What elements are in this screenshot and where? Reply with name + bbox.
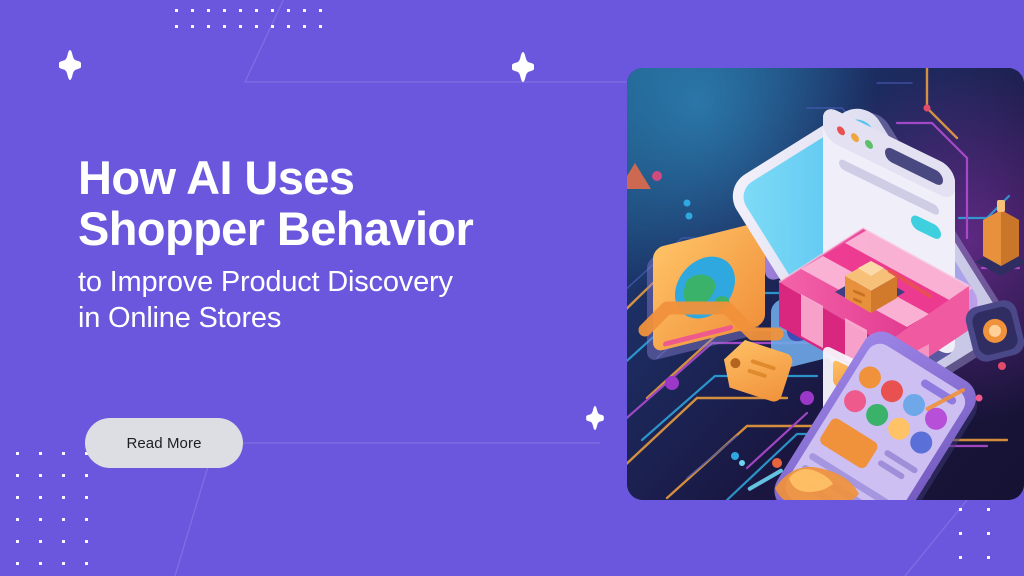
four-point-star-icon <box>583 406 607 430</box>
dot <box>255 25 258 28</box>
dot <box>239 25 242 28</box>
headline-line-1: How AI Uses <box>78 151 354 204</box>
dot <box>39 474 42 477</box>
dot <box>303 9 306 12</box>
four-point-star-icon <box>508 52 538 82</box>
dot <box>39 518 42 521</box>
dot <box>16 518 19 521</box>
dot <box>987 532 990 535</box>
dot <box>223 25 226 28</box>
dot <box>16 474 19 477</box>
dot <box>271 25 274 28</box>
dot <box>62 452 65 455</box>
headline-line-2: Shopper Behavior <box>78 202 473 255</box>
dot <box>62 496 65 499</box>
dot <box>16 452 19 455</box>
dot <box>191 9 194 12</box>
page-subtitle: to Improve Product Discovery in Online S… <box>78 265 618 336</box>
dot <box>39 562 42 565</box>
dot <box>223 9 226 12</box>
dot <box>287 9 290 12</box>
dot <box>319 9 322 12</box>
dot <box>16 540 19 543</box>
dot <box>987 556 990 559</box>
dot <box>175 9 178 12</box>
dot <box>85 562 88 565</box>
dot <box>287 25 290 28</box>
dot <box>62 474 65 477</box>
hero-illustration <box>627 68 1024 500</box>
read-more-button[interactable]: Read More <box>85 418 243 468</box>
dot <box>987 508 990 511</box>
promo-banner: How AI Uses Shopper Behavior to Improve … <box>0 0 1024 576</box>
dot <box>191 25 194 28</box>
dot <box>39 496 42 499</box>
dot <box>207 9 210 12</box>
dot <box>62 540 65 543</box>
dot <box>62 562 65 565</box>
dot <box>255 9 258 12</box>
dot-grid-bottom-right <box>959 508 1015 576</box>
subhead-line-2: in Online Stores <box>78 302 281 334</box>
page-title: How AI Uses Shopper Behavior <box>78 152 618 254</box>
dot <box>959 556 962 559</box>
dot <box>959 532 962 535</box>
dot <box>39 540 42 543</box>
text-block: How AI Uses Shopper Behavior to Improve … <box>78 152 618 336</box>
subhead-line-1: to Improve Product Discovery <box>78 266 453 298</box>
four-point-star-icon <box>55 50 85 80</box>
dot-grid-bottom-left <box>16 452 108 576</box>
dot <box>303 25 306 28</box>
dot <box>239 9 242 12</box>
dot <box>207 25 210 28</box>
dot <box>85 496 88 499</box>
dot <box>271 9 274 12</box>
dot <box>16 496 19 499</box>
dot <box>85 540 88 543</box>
dot <box>62 518 65 521</box>
dot <box>175 25 178 28</box>
dot <box>85 474 88 477</box>
dot <box>319 25 322 28</box>
dot <box>16 562 19 565</box>
dot <box>39 452 42 455</box>
dot-grid-top <box>175 9 335 41</box>
dot <box>85 518 88 521</box>
dot <box>959 508 962 511</box>
